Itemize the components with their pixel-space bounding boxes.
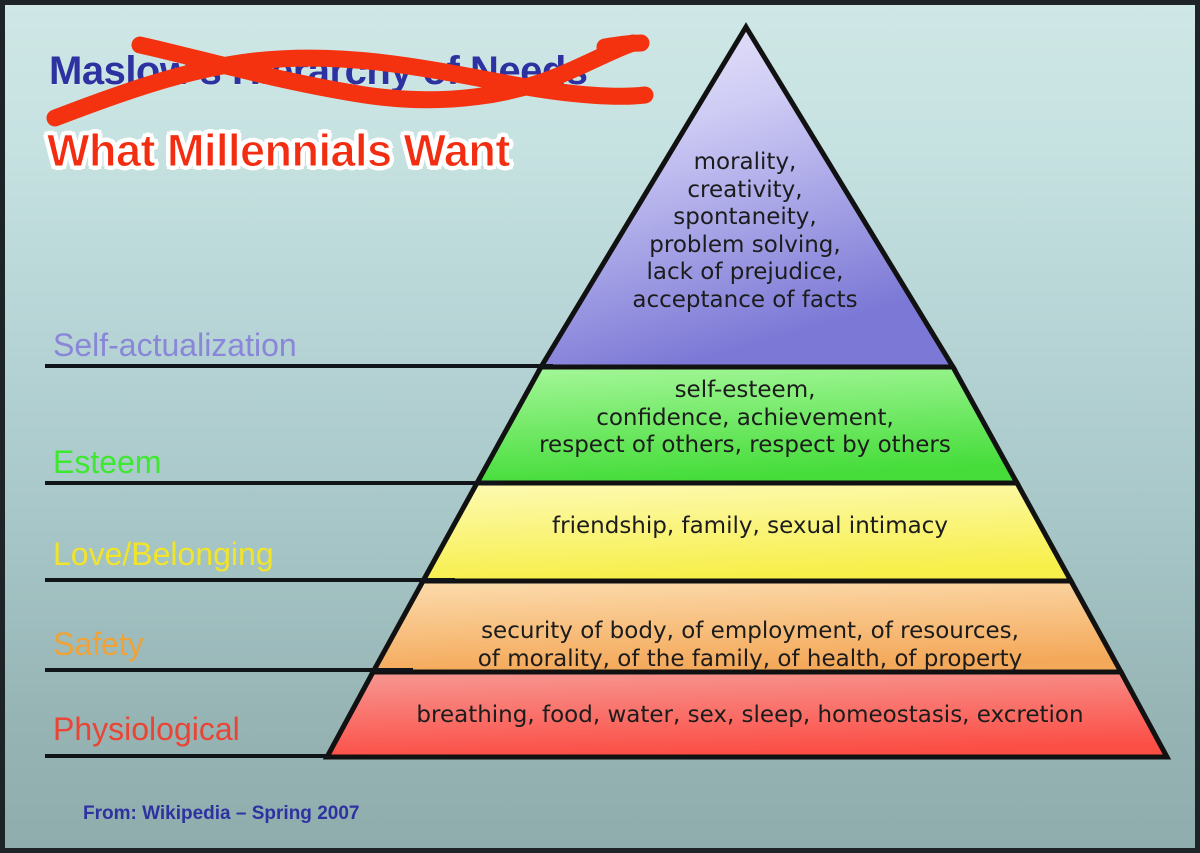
tier-text-esteem: self-esteem, confidence, achievement, re… xyxy=(485,377,1005,460)
tier-rule-physiological xyxy=(45,754,330,758)
page-title-replacement: What Millennials Want xyxy=(47,125,510,177)
tier-rule-love-belonging xyxy=(45,578,455,582)
headline-block: Maslow’s Hierarchy of Needs What Millenn… xyxy=(45,23,685,183)
tier-rule-self-actualization xyxy=(45,364,553,368)
tier-label-love-belonging: Love/Belonging xyxy=(53,536,274,573)
tier-label-self-actualization: Self-actualization xyxy=(53,327,297,364)
tier-label-esteem: Esteem xyxy=(53,444,161,481)
page-title-struck: Maslow’s Hierarchy of Needs xyxy=(49,49,588,94)
tier-label-safety: Safety xyxy=(53,626,144,663)
tier-label-physiological: Physiological xyxy=(53,711,240,748)
source-attribution: From: Wikipedia – Spring 2007 xyxy=(83,803,359,825)
tier-rule-safety xyxy=(45,668,413,672)
tier-rule-esteem xyxy=(45,481,503,485)
tier-text-love-belonging: friendship, family, sexual intimacy xyxy=(425,513,1075,541)
tier-text-physiological: breathing, food, water, sex, sleep, home… xyxy=(325,702,1175,730)
slide-canvas: morality, creativity, spontaneity, probl… xyxy=(0,0,1200,853)
tier-text-safety: security of body, of employment, of reso… xyxy=(385,618,1115,673)
